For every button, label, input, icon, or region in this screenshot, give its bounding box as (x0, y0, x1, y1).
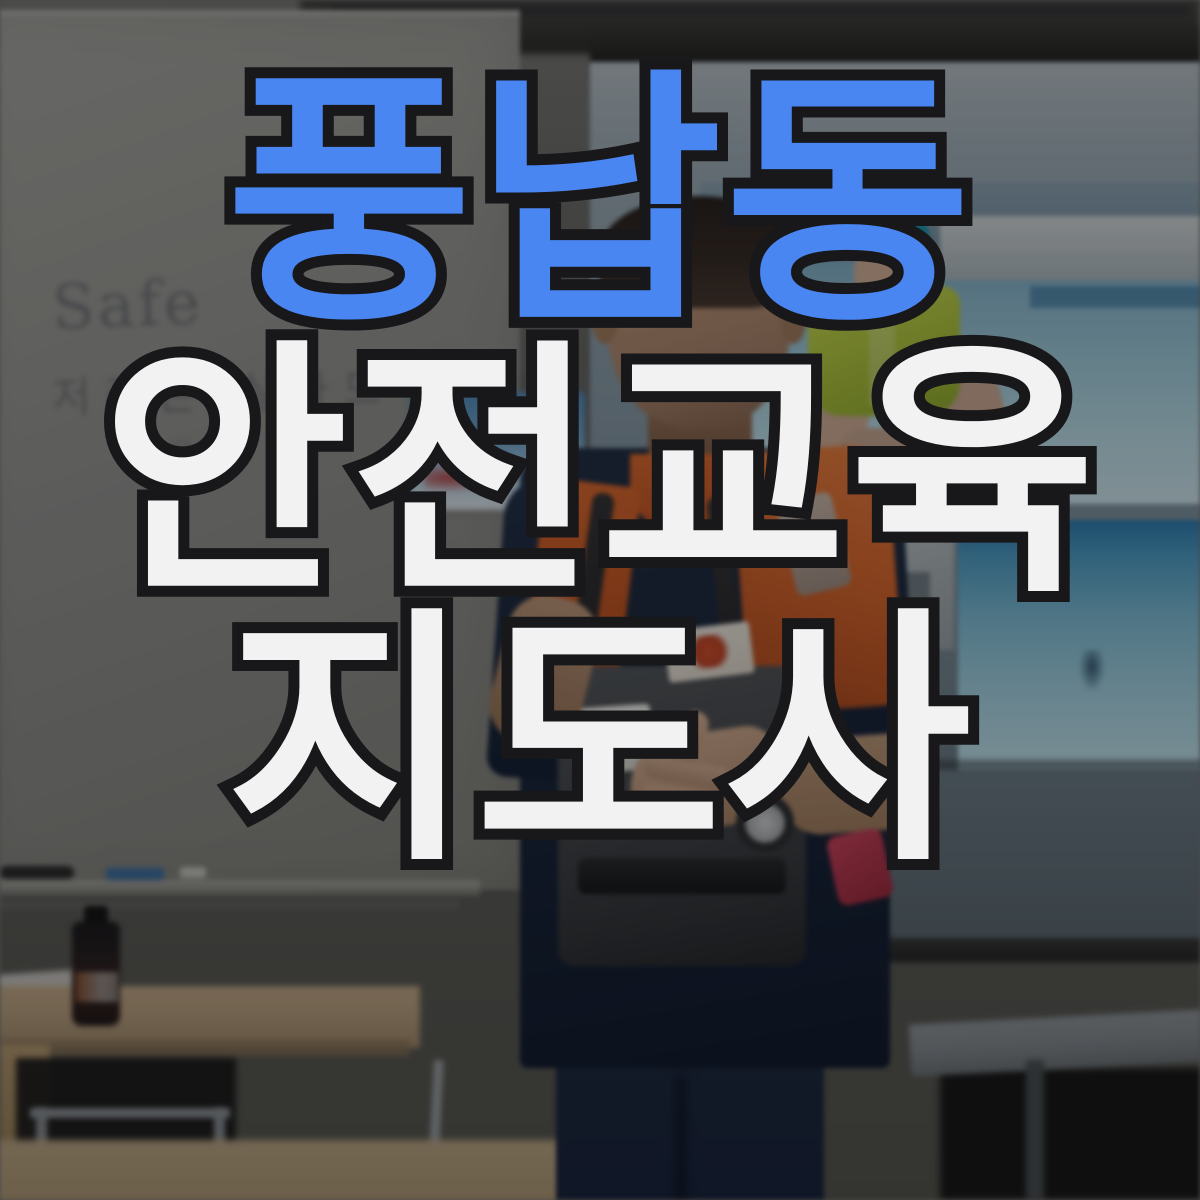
headline-line-1: 풍납동 (226, 72, 974, 335)
poster-canvas: Safe 저라른 실사드 하나 나용 착수입수동 (0, 0, 1200, 1200)
headline-text-stack: 풍납동 안전교육 지도사 (0, 0, 1200, 1200)
headline-line-3: 지도사 (226, 611, 974, 874)
headline-line-2: 안전교육 (102, 343, 1099, 606)
